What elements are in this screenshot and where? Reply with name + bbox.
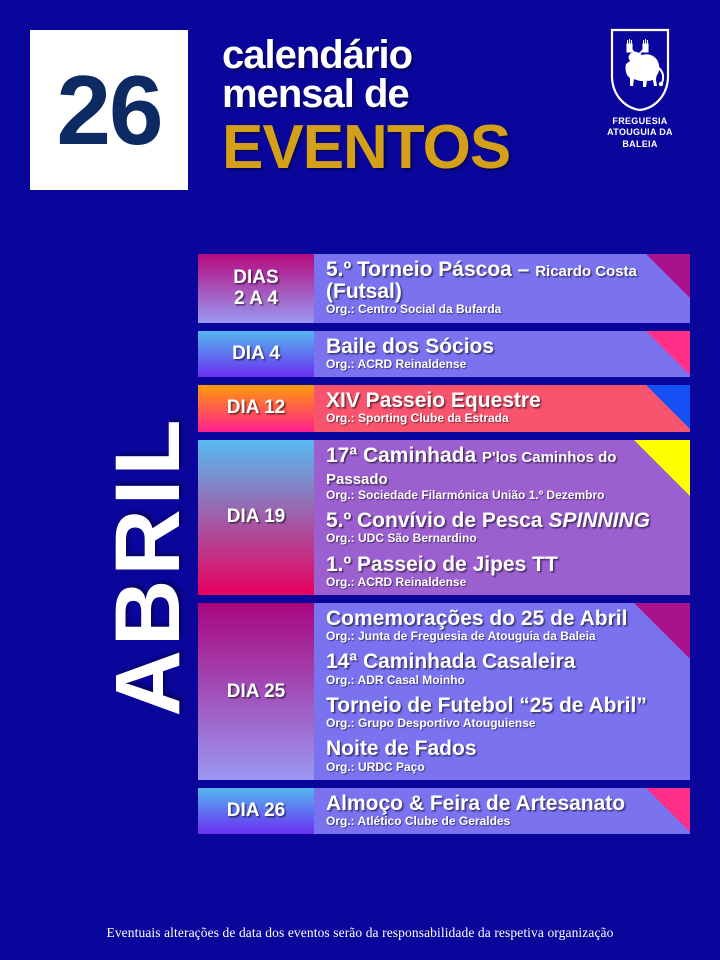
date-cell: DIAS2 A 4 xyxy=(198,254,314,323)
event-title: Baile dos Sócios xyxy=(326,336,680,358)
event-item: 17ª Caminhada P'los Caminhos do PassadoO… xyxy=(326,445,680,503)
event-title: Almoço & Feira de Artesanato xyxy=(326,793,680,815)
event-organizer: Org.: URDC Paço xyxy=(326,761,680,774)
event-item: 1.º Passeio de Jipes TTOrg.: ACRD Reinal… xyxy=(326,554,680,589)
event-title: 14ª Caminhada Casaleira xyxy=(326,651,680,673)
crest-line-1: FREGUESIA xyxy=(592,116,688,127)
title-block: calendário mensal de EVENTOS xyxy=(222,36,562,179)
date-label: DIA 4 xyxy=(232,343,280,365)
event-row: DIA 4Baile dos SóciosOrg.: ACRD Reinalde… xyxy=(196,329,692,379)
event-body-cell: Baile dos SóciosOrg.: ACRD Reinaldense xyxy=(314,331,690,377)
date-label: DIA 25 xyxy=(227,681,285,703)
event-organizer: Org.: Grupo Desportivo Atouguiense xyxy=(326,717,680,730)
bull-coat-of-arms-icon xyxy=(592,28,688,112)
event-title-main: Noite de Fados xyxy=(326,737,477,760)
event-body-cell: Almoço & Feira de ArtesanatoOrg.: Atléti… xyxy=(314,788,690,834)
date-cell: DIA 26 xyxy=(198,788,314,834)
event-organizer: Org.: UDC São Bernardino xyxy=(326,532,680,545)
event-title: 1.º Passeio de Jipes TT xyxy=(326,554,680,576)
poster-header: 26 calendário mensal de EVENTOS xyxy=(0,0,720,210)
event-row: DIA 12XIV Passeio EquestreOrg.: Sporting… xyxy=(196,383,692,433)
event-table: DIAS2 A 45.º Torneio Páscoa – Ricardo Co… xyxy=(196,252,692,840)
event-title-main: Almoço & Feira de Artesanato xyxy=(326,792,625,815)
event-title-main: 1.º Passeio de Jipes TT xyxy=(326,553,558,576)
date-label: DIAS2 A 4 xyxy=(233,267,278,310)
event-item: 5.º Convívio de Pesca SPINNINGOrg.: UDC … xyxy=(326,510,680,545)
day-number-box: 26 xyxy=(30,30,188,190)
event-item: Almoço & Feira de ArtesanatoOrg.: Atléti… xyxy=(326,793,680,828)
poster-canvas: 26 calendário mensal de EVENTOS xyxy=(0,0,720,960)
date-cell: DIA 19 xyxy=(198,440,314,596)
date-cell: DIA 12 xyxy=(198,385,314,431)
crest-line-2: ATOUGUIA DA BALEIA xyxy=(592,127,688,150)
event-row: DIA 1917ª Caminhada P'los Caminhos do Pa… xyxy=(196,438,692,598)
event-organizer: Org.: ACRD Reinaldense xyxy=(326,358,680,371)
event-title: 17ª Caminhada P'los Caminhos do Passado xyxy=(326,445,680,489)
event-row: DIA 26Almoço & Feira de ArtesanatoOrg.: … xyxy=(196,786,692,836)
event-organizer: Org.: ADR Casal Moinho xyxy=(326,674,680,687)
month-label-vertical: ABRIL xyxy=(102,346,194,786)
date-cell: DIA 25 xyxy=(198,603,314,780)
date-label: DIA 19 xyxy=(227,506,285,528)
event-organizer: Org.: ACRD Reinaldense xyxy=(326,576,680,589)
event-title: Torneio de Futebol “25 de Abril” xyxy=(326,695,680,717)
event-title-main: Baile dos Sócios xyxy=(326,335,494,358)
title-eventos: EVENTOS xyxy=(222,116,562,179)
event-body-cell: 17ª Caminhada P'los Caminhos do PassadoO… xyxy=(314,440,690,596)
event-item: Baile dos SóciosOrg.: ACRD Reinaldense xyxy=(326,336,680,371)
event-body-cell: Comemorações do 25 de AbrilOrg.: Junta d… xyxy=(314,603,690,780)
date-cell: DIA 4 xyxy=(198,331,314,377)
title-line-2: mensal de xyxy=(222,75,562,114)
event-title-main: 14ª Caminhada Casaleira xyxy=(326,650,575,673)
event-title-subtitle: Ricardo Costa xyxy=(535,263,637,280)
event-title-line-2: (Futsal) xyxy=(326,280,402,303)
event-row: DIA 25Comemorações do 25 de AbrilOrg.: J… xyxy=(196,601,692,782)
event-title: Comemorações do 25 de Abril xyxy=(326,608,680,630)
event-row: DIAS2 A 45.º Torneio Páscoa – Ricardo Co… xyxy=(196,252,692,325)
event-title: 5.º Torneio Páscoa – Ricardo Costa(Futsa… xyxy=(326,259,680,303)
event-title-main: 17ª Caminhada xyxy=(326,444,482,467)
event-title-main: Torneio de Futebol “25 de Abril” xyxy=(326,694,647,717)
date-label: DIA 12 xyxy=(227,397,285,419)
month-label: ABRIL xyxy=(97,415,199,716)
event-organizer: Org.: Junta de Freguesia de Atouguia da … xyxy=(326,630,680,643)
event-item: Torneio de Futebol “25 de Abril”Org.: Gr… xyxy=(326,695,680,730)
event-organizer: Org.: Sporting Clube da Estrada xyxy=(326,412,680,425)
event-item: Comemorações do 25 de AbrilOrg.: Junta d… xyxy=(326,608,680,643)
crest-block: FREGUESIA ATOUGUIA DA BALEIA xyxy=(592,28,688,150)
event-title: 5.º Convívio de Pesca SPINNING xyxy=(326,510,680,532)
event-title-main: XIV Passeio Equestre xyxy=(326,389,541,412)
date-label-line-2: 2 A 4 xyxy=(234,288,278,309)
event-body-cell: XIV Passeio EquestreOrg.: Sporting Clube… xyxy=(314,385,690,431)
event-title-main: 5.º Convívio de Pesca xyxy=(326,509,548,532)
title-line-1: calendário xyxy=(222,36,562,75)
date-label: DIA 26 xyxy=(227,800,285,822)
day-number: 26 xyxy=(56,61,161,159)
event-organizer: Org.: Sociedade Filarmónica União 1.º De… xyxy=(326,489,680,502)
footer-note: Eventuais alterações de data dos eventos… xyxy=(106,925,613,940)
event-title-emphasis: SPINNING xyxy=(548,509,650,532)
event-title-main: Comemorações do 25 de Abril xyxy=(326,607,627,630)
event-item: XIV Passeio EquestreOrg.: Sporting Clube… xyxy=(326,390,680,425)
event-title-main: 5.º Torneio Páscoa – xyxy=(326,258,535,281)
event-body-cell: 5.º Torneio Páscoa – Ricardo Costa(Futsa… xyxy=(314,254,690,323)
event-organizer: Org.: Centro Social da Bufarda xyxy=(326,303,680,316)
event-title: XIV Passeio Equestre xyxy=(326,390,680,412)
event-title: Noite de Fados xyxy=(326,738,680,760)
event-organizer: Org.: Atlético Clube de Geraldes xyxy=(326,815,680,828)
event-item: 5.º Torneio Páscoa – Ricardo Costa(Futsa… xyxy=(326,259,680,317)
event-item: 14ª Caminhada CasaleiraOrg.: ADR Casal M… xyxy=(326,651,680,686)
event-item: Noite de FadosOrg.: URDC Paço xyxy=(326,738,680,773)
footer: Eventuais alterações de data dos eventos… xyxy=(0,924,720,942)
